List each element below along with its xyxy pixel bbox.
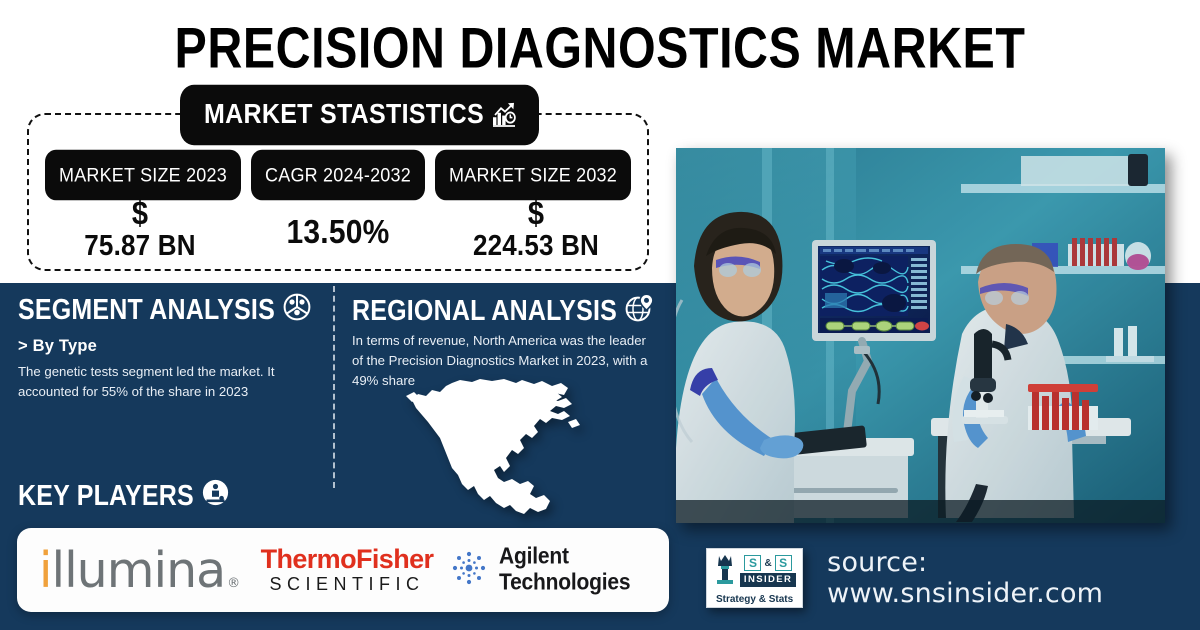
stat-label-pills: MARKET SIZE 2023 CAGR 2024-2032 MARKET S… [27, 152, 649, 198]
stat-pill-market-size-2023: MARKET SIZE 2023 [45, 150, 241, 201]
segment-analysis-heading-label: SEGMENT ANALYSIS [18, 294, 275, 327]
infographic-canvas: PRECISION DIAGNOSTICS MARKET MARKET STAS… [0, 0, 1200, 630]
market-statistics-heading-label: MARKET STASTISTICS [204, 98, 484, 130]
stat-value-market-size-2032: $ 224.53 BN [441, 200, 631, 262]
ampersand: & [764, 558, 771, 569]
registered-mark: ® [227, 577, 239, 590]
key-players-heading-label: KEY PLAYERS [18, 479, 194, 512]
sns-letters: S & S [744, 555, 791, 571]
strategy-stats-tagline: Strategy & Stats [716, 594, 793, 605]
page-title: PRECISION DIAGNOSTICS MARKET [0, 14, 1200, 81]
segment-subheading: > By Type [18, 337, 97, 356]
stat-values: $ 75.87 BN 13.50% $ 224.53 BN [27, 200, 649, 262]
market-statistics-heading: MARKET STASTISTICS [180, 85, 539, 145]
sns-logo-row: S & S INSIDER [713, 552, 796, 591]
stat-value-cagr: 13.50% [243, 200, 433, 252]
segment-analysis-heading: SEGMENT ANALYSIS [18, 293, 311, 328]
stat-amount: 224.53 BN [441, 227, 631, 263]
logo-illumina: illumina® [17, 528, 247, 612]
chart-growth-icon [491, 101, 517, 128]
north-america-map [400, 378, 610, 528]
stat-amount: 75.87 BN [45, 227, 235, 263]
agilent-starburst-icon [447, 546, 491, 595]
chess-king-icon [713, 552, 737, 591]
footer: S & S INSIDER Strategy & Stats source: w… [706, 547, 1200, 609]
stat-amount: 13.50% [243, 212, 433, 254]
sns-text-block: S & S INSIDER [740, 555, 796, 587]
insider-word: INSIDER [740, 573, 796, 587]
letter-s-second: S [775, 555, 792, 571]
laboratory-photo-illustration [676, 148, 1165, 523]
regional-analysis-heading-label: REGIONAL ANALYSIS [352, 295, 617, 328]
regional-analysis-heading: REGIONAL ANALYSIS [352, 293, 655, 330]
letter-s-first: S [744, 555, 761, 571]
stat-value-market-size-2023: $ 75.87 BN [45, 200, 235, 262]
agilent-wordmark: Agilent Technologies [499, 544, 667, 596]
logo-thermo-fisher: ThermoFisher SCIENTIFIC [247, 528, 447, 612]
thermo-fisher-name: ThermoFisher [261, 545, 434, 573]
pie-segment-icon [283, 293, 311, 328]
logo-agilent: Agilent Technologies [447, 528, 667, 612]
thermo-fisher-scientific: SCIENTIFIC [269, 574, 424, 595]
illumina-wordmark: illumina® [39, 546, 239, 595]
source-url: source: www.snsinsider.com [827, 547, 1200, 609]
person-podium-icon [202, 479, 229, 513]
key-players-logo-card: illumina® ThermoFisher SCIENTIFIC [17, 528, 669, 612]
key-players-heading: KEY PLAYERS [18, 479, 229, 513]
illumina-rest: llumina [51, 546, 225, 595]
globe-pin-icon [625, 293, 655, 330]
sns-insider-logo: S & S INSIDER Strategy & Stats [706, 548, 803, 608]
stat-pill-market-size-2032: MARKET SIZE 2032 [435, 150, 631, 201]
section-divider [333, 286, 335, 488]
stat-pill-cagr: CAGR 2024-2032 [251, 150, 425, 201]
laboratory-photo [676, 148, 1165, 523]
illumina-orange-i: i [39, 546, 52, 595]
segment-analysis-body: The genetic tests segment led the market… [18, 362, 318, 402]
